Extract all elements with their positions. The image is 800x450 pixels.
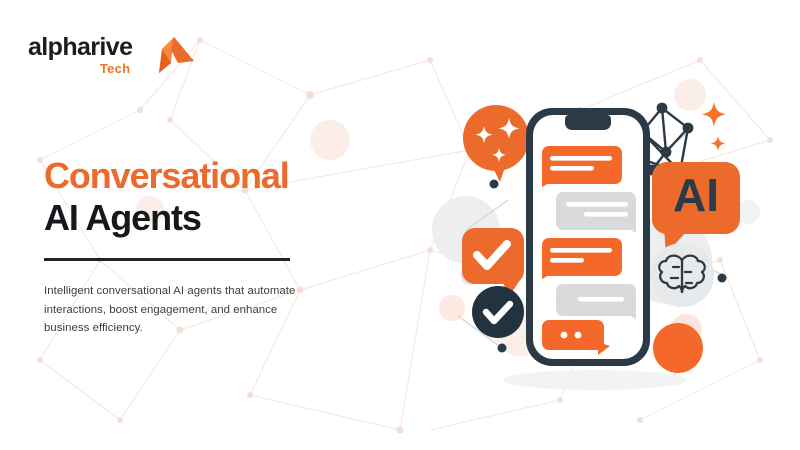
sparkles-icon <box>702 102 726 151</box>
logo-wordmark: alpharive <box>28 35 132 60</box>
headline-line-2: AI Agents <box>44 197 374 239</box>
chat-bubble-typing <box>542 320 610 355</box>
chevron-mark-icon <box>138 33 194 75</box>
logo-tagline: Tech <box>100 62 131 75</box>
smartphone-device <box>526 108 650 366</box>
chat-bubble-gray-1 <box>556 192 636 233</box>
logo-text: alpharive Tech <box>28 32 132 75</box>
title-divider <box>44 258 290 261</box>
chat-bubble-gray-2 <box>556 284 636 319</box>
page-title: Conversational AI Agents <box>44 155 374 239</box>
hero-copy: Conversational AI Agents Intelligent con… <box>44 155 374 338</box>
conversational-ai-illustration: AI <box>430 80 790 410</box>
hero-banner: alpharive Tech Conversational AI Agents … <box>0 0 800 450</box>
chat-bubble-orange-1 <box>542 146 622 187</box>
orange-dot-badge <box>653 323 703 373</box>
brain-circle-badge <box>650 243 714 307</box>
brand-logo[interactable]: alpharive Tech <box>28 32 194 75</box>
check-circle-badge <box>472 286 524 338</box>
ai-badge-label: AI <box>673 169 719 221</box>
hero-subcopy: Intelligent conversational AI agents tha… <box>44 282 296 337</box>
chat-bubble-orange-2 <box>542 238 622 279</box>
headline-line-1: Conversational <box>44 155 374 197</box>
sparkle-bubble-badge <box>463 105 529 182</box>
phone-notch <box>565 115 611 130</box>
